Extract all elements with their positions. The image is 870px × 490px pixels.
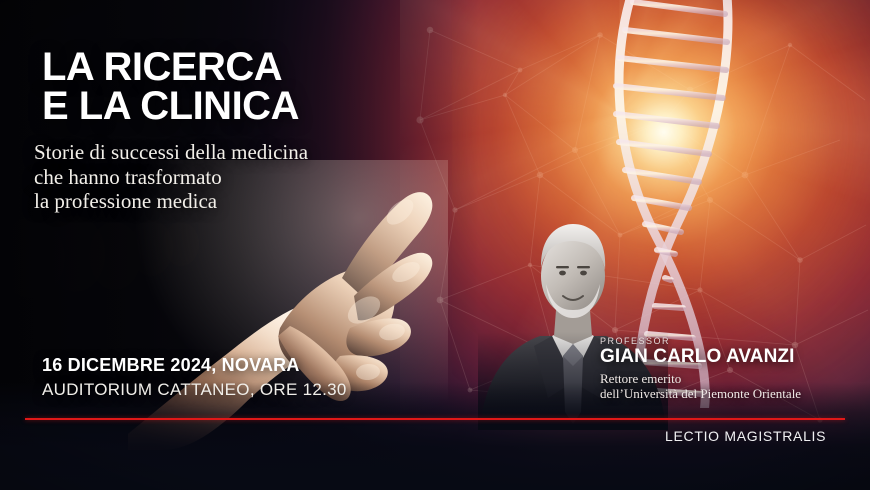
footer-label: LECTIO MAGISTRALIS	[665, 428, 826, 444]
subtitle: Storie di successi della medicina che ha…	[34, 140, 434, 214]
subtitle-line-3: la professione medica	[34, 189, 434, 214]
affiliation-line-2: dell’Università del Piemonte Orientale	[600, 386, 870, 402]
title-line-2: E LA CLINICA	[42, 87, 472, 126]
red-divider	[25, 418, 845, 420]
subtitle-line-2: che hanno trasformato	[34, 165, 434, 190]
speaker-name: GIAN CARLO AVANZI	[600, 347, 870, 368]
speaker-affiliation: Rettore emerito dell’Università del Piem…	[600, 371, 870, 402]
title-line-1: LA RICERCA	[42, 45, 282, 89]
event-date: 16 DICEMBRE 2024, NOVARA	[42, 355, 402, 376]
page-title: LA RICERCA E LA CLINICA	[42, 48, 472, 126]
speaker-role: PROFESSOR	[600, 336, 870, 346]
event-venue: AUDITORIUM CATTANEO, ORE 12.30	[42, 380, 402, 400]
event-banner: LA RICERCA E LA CLINICA Storie di succes…	[0, 0, 870, 490]
event-details: 16 DICEMBRE 2024, NOVARA AUDITORIUM CATT…	[42, 355, 402, 400]
affiliation-line-1: Rettore emerito	[600, 371, 870, 387]
speaker-info: PROFESSOR GIAN CARLO AVANZI Rettore emer…	[600, 336, 870, 402]
subtitle-line-1: Storie di successi della medicina	[34, 140, 434, 165]
